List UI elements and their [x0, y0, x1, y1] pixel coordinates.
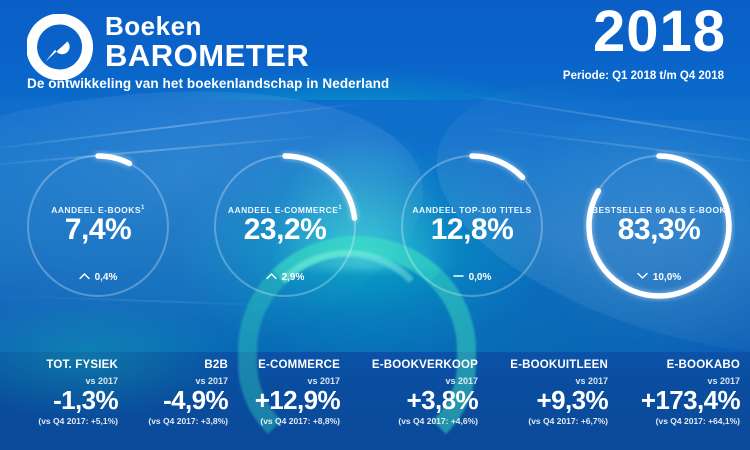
donut-value: 7,4%: [22, 213, 174, 247]
dash-icon: [453, 272, 464, 283]
donut-value: 23,2%: [209, 213, 361, 247]
donut-delta-value: 0,0%: [469, 272, 492, 283]
stats-row: TOT. FYSIEKvs 2017-1,3%(vs Q4 2017: +5,1…: [0, 360, 750, 450]
stat-value: -4,9%: [148, 387, 228, 414]
stat-name: E-BOOKUITLEEN: [510, 360, 608, 372]
stat-subvalue: (vs Q4 2017: +4,6%): [372, 417, 478, 426]
stat-item: TOT. FYSIEKvs 2017-1,3%(vs Q4 2017: +5,1…: [38, 360, 118, 425]
donut-delta-value: 2,9%: [282, 272, 305, 283]
chevron-down-icon: [637, 272, 648, 283]
stat-subvalue: (vs Q4 2017: +3,8%): [148, 417, 228, 426]
brand-line-2: BAROMETER: [105, 40, 309, 73]
donut-delta: 0,4%: [22, 272, 174, 283]
stat-item: E-COMMERCEvs 2017+12,9%(vs Q4 2017: +8,8…: [255, 360, 340, 425]
donut-value: 12,8%: [396, 213, 548, 247]
stat-name: B2B: [148, 360, 228, 372]
report-period: Periode: Q1 2018 t/m Q4 2018: [563, 70, 724, 82]
donut-delta: 10,0%: [583, 272, 735, 283]
stat-name: E-BOOKABO: [641, 360, 740, 372]
infographic-root: Boeken BAROMETER De ontwikkeling van het…: [0, 0, 750, 450]
stat-value: +173,4%: [641, 387, 740, 414]
donut-delta: 2,9%: [209, 272, 361, 283]
donut-metric: AANDEEL E-BOOKS17,4%0,4%: [22, 150, 174, 302]
stat-name: E-BOOKVERKOOP: [372, 360, 478, 372]
stat-name: E-COMMERCE: [255, 360, 340, 372]
donut-delta-value: 10,0%: [653, 272, 681, 283]
stat-item: B2Bvs 2017-4,9%(vs Q4 2017: +3,8%): [148, 360, 228, 425]
stat-item: E-BOOKABOvs 2017+173,4%(vs Q4 2017: +64,…: [641, 360, 740, 425]
stat-subvalue: (vs Q4 2017: +64,1%): [641, 417, 740, 426]
donut-delta: 0,0%: [396, 272, 548, 283]
header: Boeken BAROMETER De ontwikkeling van het…: [0, 0, 750, 100]
brand-tagline: De ontwikkeling van het boekenlandschap …: [27, 76, 389, 91]
chevron-up-icon: [79, 272, 90, 283]
donut-metrics: AANDEEL E-BOOKS17,4%0,4%AANDEEL E-COMMER…: [0, 150, 750, 310]
donut-metric: BESTSELLER 60 ALS E-BOOK83,3%10,0%: [583, 150, 735, 302]
stat-item: E-BOOKUITLEENvs 2017+9,3%(vs Q4 2017: +6…: [510, 360, 608, 425]
donut-metric: AANDEEL TOP-100 TITELS12,8%0,0%: [396, 150, 548, 302]
report-year: 2018: [593, 3, 726, 61]
donut-metric: AANDEEL E-COMMERCE123,2%2,9%: [209, 150, 361, 302]
brand-wordmark: Boeken BAROMETER: [105, 12, 309, 73]
stat-value: +12,9%: [255, 387, 340, 414]
donut-value: 83,3%: [583, 213, 735, 247]
stat-value: +9,3%: [510, 387, 608, 414]
brand-line-1: Boeken: [105, 12, 309, 40]
donut-delta-value: 0,4%: [95, 272, 118, 283]
stat-item: E-BOOKVERKOOPvs 2017+3,8%(vs Q4 2017: +4…: [372, 360, 478, 425]
stat-name: TOT. FYSIEK: [38, 360, 118, 372]
stat-subvalue: (vs Q4 2017: +8,8%): [255, 417, 340, 426]
chevron-up-icon: [266, 272, 277, 283]
stat-value: +3,8%: [372, 387, 478, 414]
stat-value: -1,3%: [38, 387, 118, 414]
stat-subvalue: (vs Q4 2017: +6,7%): [510, 417, 608, 426]
gauge-icon: [27, 14, 93, 80]
stat-subvalue: (vs Q4 2017: +5,1%): [38, 417, 118, 426]
